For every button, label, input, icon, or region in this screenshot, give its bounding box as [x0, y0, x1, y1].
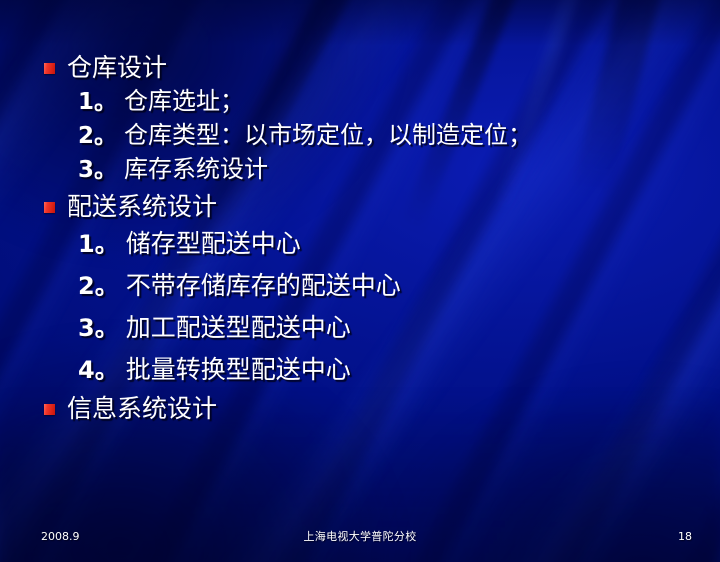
numbered-item: 1。 仓库选址； [0, 89, 244, 114]
numbered-item: 3。 加工配送型配送中心 [0, 315, 351, 341]
red-square-bullet-icon [44, 404, 55, 415]
presentation-slide: 仓库设计 1。 仓库选址； 2。 仓库类型：以市场定位，以制造定位； 3。 库存… [0, 0, 720, 562]
numbered-item: 2。 不带存储库存的配送中心 [0, 273, 401, 299]
red-square-bullet-icon [44, 63, 55, 74]
slide-footer: 2008.9 上海电视大学普陀分校 18 [0, 520, 720, 562]
bullet-heading-distribution-system-design: 配送系统设计 [0, 194, 720, 219]
footer-organization: 上海电视大学普陀分校 [304, 531, 417, 543]
item-text: 加工配送型配送中心 [126, 315, 351, 340]
item-text: 不带存储库存的配送中心 [126, 273, 401, 298]
item-text: 仓库选址； [124, 89, 244, 113]
list-item: 2。 仓库类型：以市场定位，以制造定位； [0, 123, 720, 148]
item-number: 3。 [78, 158, 117, 182]
item-text: 储存型配送中心 [126, 231, 301, 256]
list-item: 4。 批量转换型配送中心 [0, 357, 720, 383]
red-square-bullet-icon [44, 202, 55, 213]
item-number: 3。 [78, 316, 119, 341]
item-number: 2。 [78, 274, 119, 299]
item-number: 2。 [78, 124, 117, 148]
heading-text: 配送系统设计 [67, 194, 217, 219]
footer-date: 2008.9 [41, 531, 80, 543]
list-item: 1。 仓库选址； [0, 89, 720, 114]
heading-text: 信息系统设计 [67, 396, 217, 421]
numbered-item: 2。 仓库类型：以市场定位，以制造定位； [0, 123, 532, 148]
item-number: 1。 [78, 232, 119, 257]
item-text: 仓库类型：以市场定位，以制造定位； [124, 123, 532, 147]
heading-text: 仓库设计 [67, 55, 167, 80]
item-text: 库存系统设计 [124, 157, 268, 181]
bullet-heading-warehouse-design: 仓库设计 [0, 55, 720, 80]
bullet-heading-information-system-design: 信息系统设计 [0, 396, 720, 421]
numbered-item: 4。 批量转换型配送中心 [0, 357, 351, 383]
list-item: 1。 储存型配送中心 [0, 231, 720, 257]
item-number: 1。 [78, 90, 117, 114]
list-item: 2。 不带存储库存的配送中心 [0, 273, 720, 299]
numbered-item: 1。 储存型配送中心 [0, 231, 301, 257]
item-number: 4。 [78, 358, 119, 383]
numbered-item: 3。 库存系统设计 [0, 157, 268, 182]
footer-page-number: 18 [678, 531, 692, 543]
list-item: 3。 加工配送型配送中心 [0, 315, 720, 341]
item-text: 批量转换型配送中心 [126, 357, 351, 382]
list-item: 3。 库存系统设计 [0, 157, 720, 182]
slide-body: 仓库设计 1。 仓库选址； 2。 仓库类型：以市场定位，以制造定位； 3。 库存… [0, 0, 720, 421]
